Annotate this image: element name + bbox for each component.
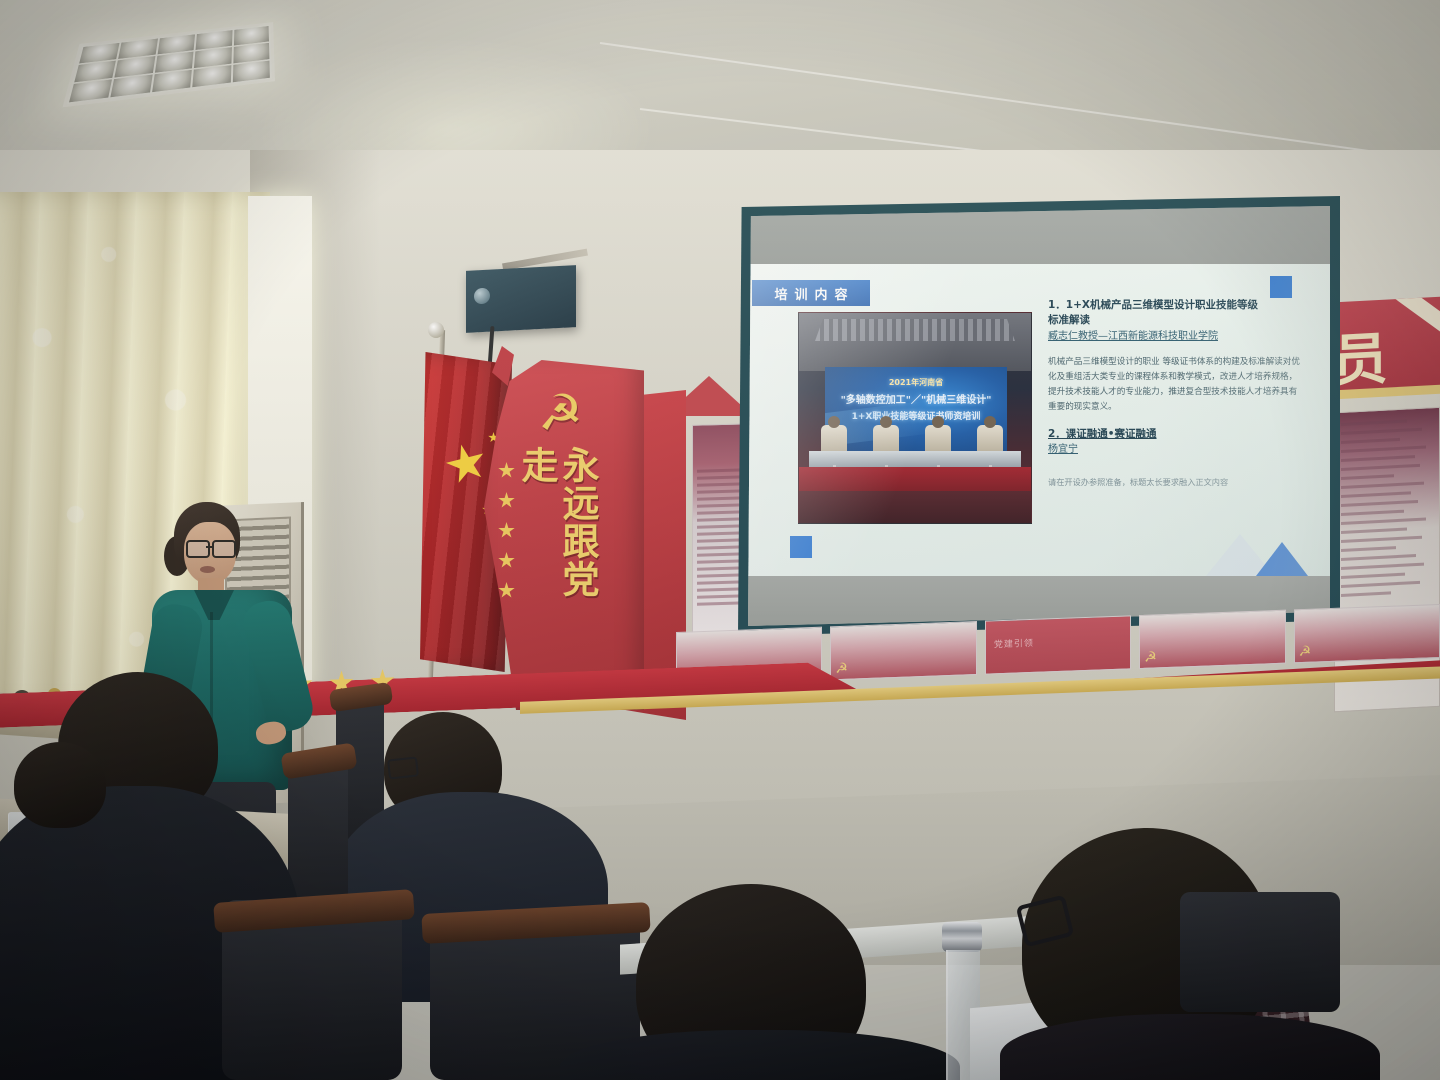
projection-screen[interactable]: 培训内容 2021年河南省 "多轴数控加工"／"机械三维设计" 1+X职业技能等… bbox=[748, 206, 1330, 626]
shirt-collar bbox=[194, 590, 234, 620]
party-slogan-text: 永远跟党走 bbox=[542, 446, 598, 632]
wall-poster: ☭ bbox=[830, 621, 976, 680]
mouth bbox=[200, 566, 215, 573]
slide-presenter-line: 臧志仁教授—江西新能源科技职业学院 bbox=[1048, 329, 1300, 344]
board-header-slash bbox=[1389, 297, 1440, 346]
photo-carpet bbox=[799, 491, 1031, 524]
led-line-2: "多轴数控加工"／"机械三维设计" bbox=[825, 391, 1007, 406]
chair[interactable] bbox=[1180, 892, 1340, 1012]
slide-heading-2: 2．课证融通•赛证融通 bbox=[1048, 427, 1300, 442]
bottle-cap-icon bbox=[942, 922, 982, 952]
screen-letterbox-top bbox=[748, 206, 1330, 268]
slide-mountain-blue-icon bbox=[1256, 542, 1308, 576]
slide-accent-square-bottom bbox=[790, 536, 812, 558]
decal-ribbon bbox=[492, 346, 514, 386]
decal-star-column bbox=[498, 462, 520, 612]
board-header-char: 员 bbox=[1332, 314, 1388, 395]
projector bbox=[466, 265, 576, 333]
photo-ceiling-panel bbox=[815, 319, 1015, 341]
wall-poster: 党建引领 bbox=[985, 615, 1131, 674]
slide-accent-square-top bbox=[1270, 276, 1292, 298]
slide-note: 请在开设办参照准备，标题太长要求融入正文内容 bbox=[1048, 475, 1300, 489]
attendee-glasses-icon bbox=[387, 756, 419, 779]
slide-heading-1: 1．1+X机械产品三维模型设计职业技能等级 bbox=[1048, 298, 1300, 313]
led-line-3: 1+X职业技能等级证书师资培训 bbox=[825, 409, 1007, 422]
led-line-1: 2021年河南省 bbox=[825, 377, 1007, 388]
slide-section-tag: 培训内容 bbox=[752, 280, 870, 306]
shirt-placket bbox=[210, 612, 213, 732]
slide-presenter-line-2: 杨宜宁 bbox=[1048, 442, 1300, 457]
slide-paragraph: 机械产品三维模型设计的职业 等级证书体系的构建及标准解读对优化及重组活大类专业的… bbox=[1048, 355, 1300, 415]
slide-heading-1b: 标准解读 bbox=[1048, 313, 1300, 328]
photo-stage-floor bbox=[799, 467, 1031, 491]
meeting-room-photo: ☭ 永远跟党走 员 培训 bbox=[0, 0, 1440, 1080]
flag-finial bbox=[428, 322, 444, 338]
board-header: 员 bbox=[1326, 297, 1440, 395]
wall-poster: ☭ bbox=[1294, 604, 1440, 663]
projector-lens-icon bbox=[474, 288, 490, 305]
slide-text-column: 1．1+X机械产品三维模型设计职业技能等级 标准解读 臧志仁教授—江西新能源科技… bbox=[1048, 298, 1300, 489]
presentation-slide: 培训内容 2021年河南省 "多轴数控加工"／"机械三维设计" 1+X职业技能等… bbox=[748, 264, 1330, 576]
hammer-sickle-icon: ☭ bbox=[538, 388, 596, 440]
photo-ceiling bbox=[799, 313, 1031, 371]
attendee-glasses-plaid-body bbox=[1000, 1014, 1380, 1080]
glasses-icon bbox=[186, 540, 236, 555]
slide-embedded-photo: 2021年河南省 "多轴数控加工"／"机械三维设计" 1+X职业技能等级证书师资… bbox=[798, 312, 1032, 524]
wall-poster: ☭ bbox=[1139, 610, 1285, 669]
attendee-dark-shirt-head bbox=[14, 742, 106, 828]
